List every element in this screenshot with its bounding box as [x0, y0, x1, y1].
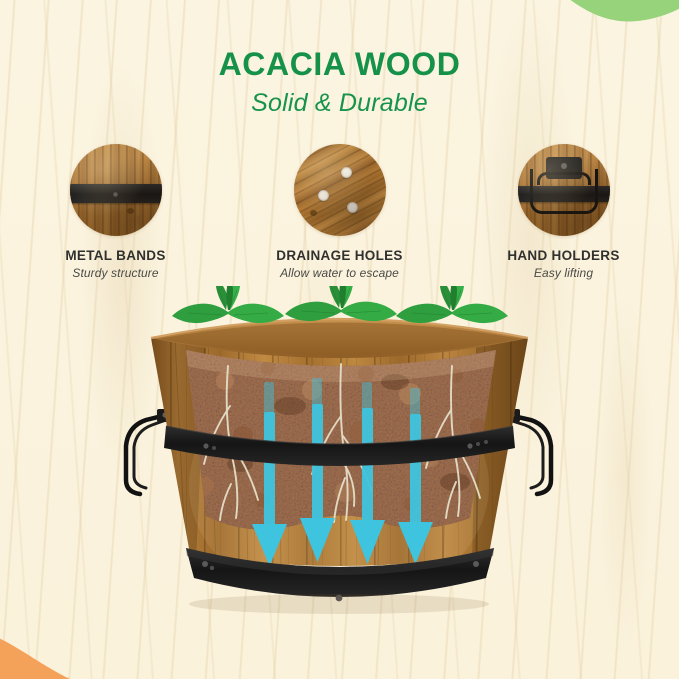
feature-subtitle: Allow water to escape [280, 266, 399, 280]
metal-bands-icon [70, 144, 162, 236]
feature-subtitle: Easy lifting [534, 266, 593, 280]
planter-illustration [0, 286, 679, 631]
page-title: ACACIA WOOD [0, 46, 679, 83]
feature-subtitle: Sturdy structure [72, 266, 158, 280]
page-subtitle: Solid & Durable [0, 89, 679, 118]
feature-list: METAL BANDS Sturdy structure DRAINAGE HO… [0, 144, 679, 280]
drainage-holes-icon [294, 144, 386, 236]
handle-left [126, 409, 173, 494]
feature-hand-holders[interactable]: HAND HOLDERS Easy lifting [489, 144, 639, 280]
feature-title: HAND HOLDERS [507, 248, 619, 263]
hand-holders-icon [518, 144, 610, 236]
feature-title: DRAINAGE HOLES [276, 248, 402, 263]
infographic-canvas: ACACIA WOOD Solid & Durable METAL BANDS … [0, 0, 679, 679]
feature-metal-bands[interactable]: METAL BANDS Sturdy structure [41, 144, 191, 280]
feature-title: METAL BANDS [65, 248, 165, 263]
feature-drainage-holes[interactable]: DRAINAGE HOLES Allow water to escape [265, 144, 415, 280]
